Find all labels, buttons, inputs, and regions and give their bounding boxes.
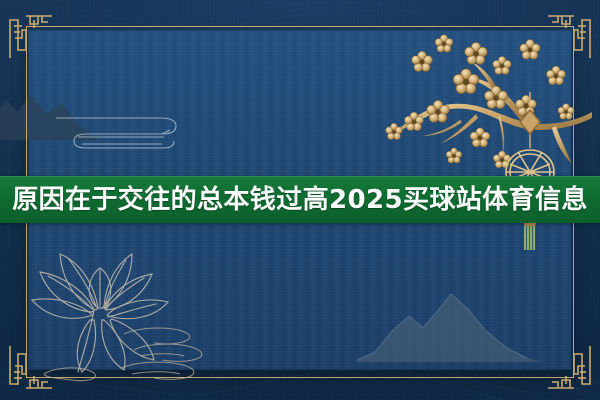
poster-canvas: 原因在于交往的总本钱过高2025买球站体育信息 — [0, 0, 600, 400]
fret-corner-bottom-left-icon — [8, 344, 54, 390]
fret-corner-bottom-right-icon — [546, 344, 592, 390]
fret-corner-top-left-icon — [8, 14, 54, 60]
fret-corner-top-right-icon — [546, 14, 592, 60]
title-band: 原因在于交往的总本钱过高2025买球站体育信息 — [0, 176, 600, 223]
page-title: 原因在于交往的总本钱过高2025买球站体育信息 — [12, 187, 588, 213]
